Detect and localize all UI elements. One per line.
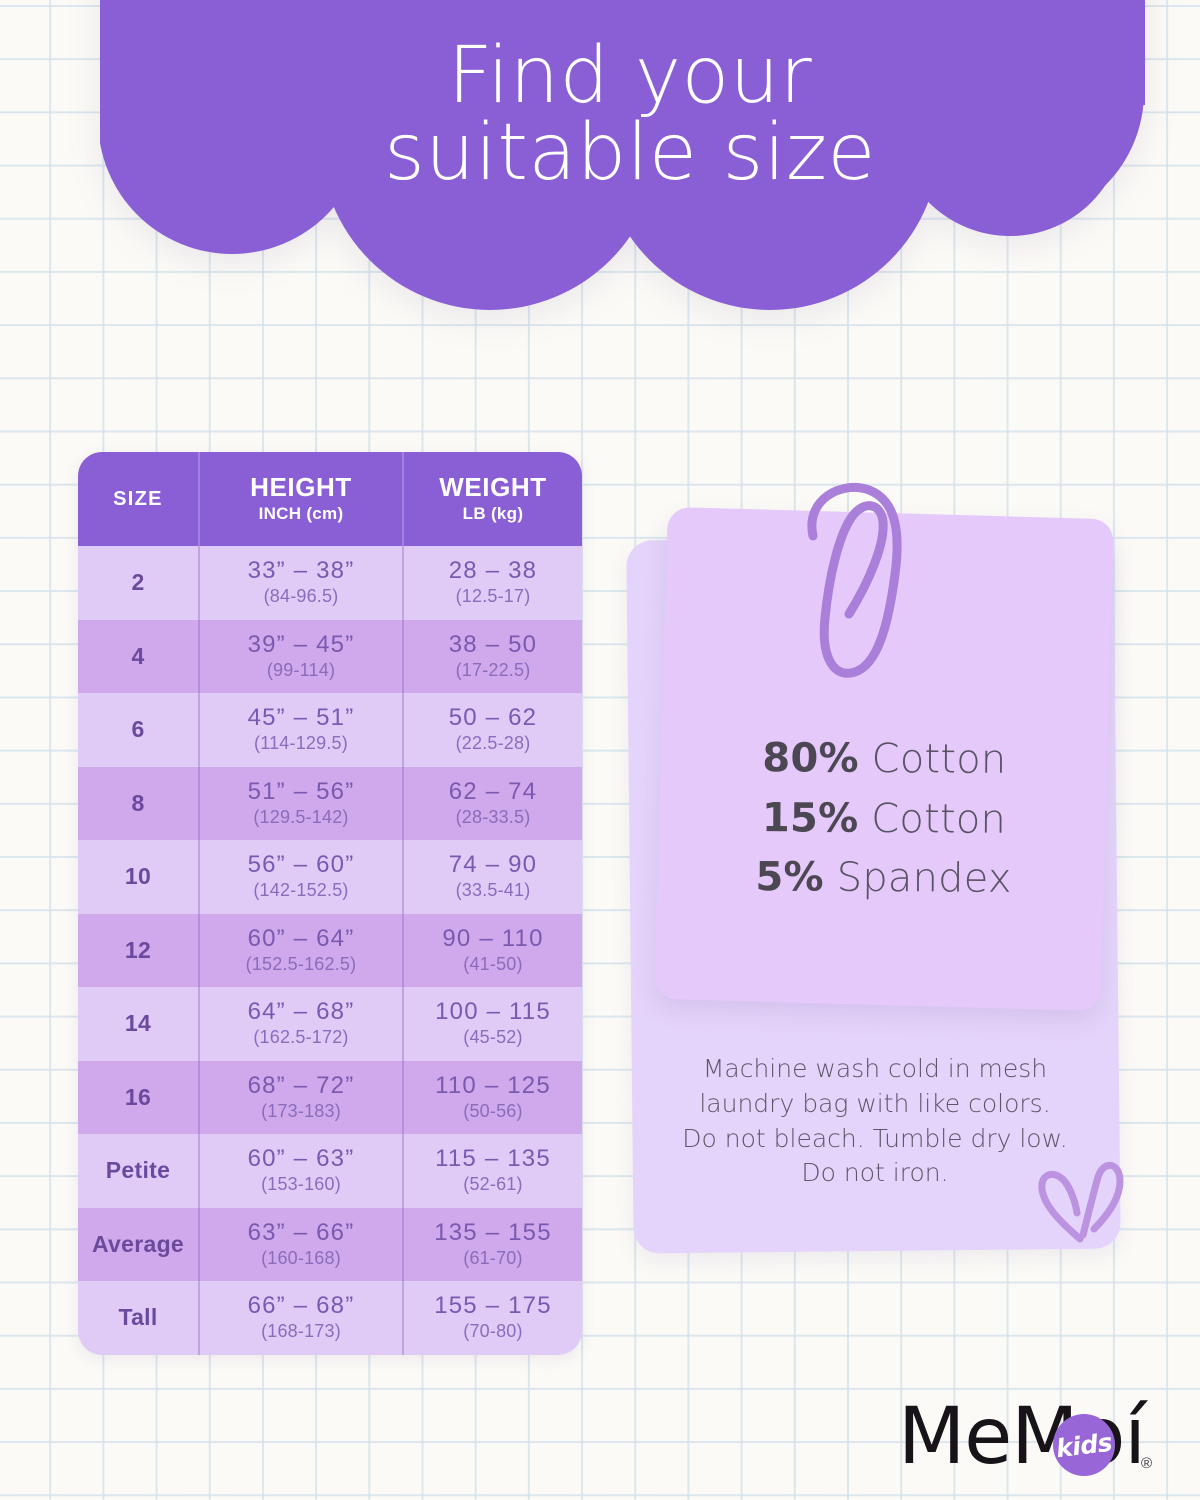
cell-height: 56” – 60”(142-152.5) [199, 840, 403, 914]
composition-percent: 15% [762, 795, 859, 842]
cell-weight-range: 155 – 175 [404, 1293, 582, 1320]
composition-material: Spandex [824, 855, 1012, 902]
heart-doodle-icon [1036, 1155, 1126, 1247]
cell-weight-range: 100 – 115 [404, 999, 582, 1026]
paperclip-icon [795, 478, 925, 688]
composition-percent: 80% [762, 735, 859, 782]
cell-weight: 28 – 38(12.5-17) [403, 546, 582, 620]
cell-height: 66” – 68”(168-173) [199, 1281, 403, 1355]
composition-material: Cotton [858, 795, 1006, 842]
cell-size: 16 [78, 1061, 199, 1135]
table-body: 233” – 38”(84-96.5)28 – 38(12.5-17)439” … [78, 546, 582, 1355]
cell-height-range: 39” – 45” [200, 632, 402, 659]
care-line: Do not bleach. Tumble dry low. [640, 1122, 1110, 1157]
table-row: 233” – 38”(84-96.5)28 – 38(12.5-17) [78, 546, 582, 620]
kids-badge: kids [1053, 1414, 1115, 1476]
cell-weight: 74 – 90(33.5-41) [403, 840, 582, 914]
cell-height-metric: (84-96.5) [200, 586, 402, 607]
column-header-weight: WEIGHT LB (kg) [403, 452, 582, 546]
cell-height-range: 64” – 68” [200, 999, 402, 1026]
cell-weight-metric: (61-70) [404, 1248, 582, 1269]
cell-height-range: 63” – 66” [200, 1220, 402, 1247]
table-row: 1668” – 72”(173-183)110 – 125(50-56) [78, 1061, 582, 1135]
cell-size: 8 [78, 767, 199, 841]
cell-height: 63” – 66”(160-168) [199, 1208, 403, 1282]
column-header-height: HEIGHT INCH (cm) [199, 452, 403, 546]
cell-weight-metric: (70-80) [404, 1321, 582, 1342]
cell-height-metric: (152.5-162.5) [200, 954, 402, 975]
cell-weight: 38 – 50(17-22.5) [403, 620, 582, 694]
cell-height-range: 60” – 64” [200, 926, 402, 953]
table-row: 1056” – 60”(142-152.5)74 – 90(33.5-41) [78, 840, 582, 914]
care-line: laundry bag with like colors. [640, 1087, 1110, 1122]
cell-height: 45” – 51”(114-129.5) [199, 693, 403, 767]
cell-weight-metric: (22.5-28) [404, 733, 582, 754]
cell-weight-range: 38 – 50 [404, 632, 582, 659]
cell-size: 4 [78, 620, 199, 694]
cell-weight-range: 115 – 135 [404, 1146, 582, 1173]
cell-height-range: 60” – 63” [200, 1146, 402, 1173]
kids-badge-label: kids [1054, 1427, 1113, 1463]
table-row: 439” – 45”(99-114)38 – 50(17-22.5) [78, 620, 582, 694]
cell-height-metric: (160-168) [200, 1248, 402, 1269]
cell-height-metric: (173-183) [200, 1101, 402, 1122]
cell-size: 2 [78, 546, 199, 620]
table-row: 1464” – 68”(162.5-172)100 – 115(45-52) [78, 987, 582, 1061]
cell-size: Petite [78, 1134, 199, 1208]
cell-height-metric: (153-160) [200, 1174, 402, 1195]
cell-weight-range: 135 – 155 [404, 1220, 582, 1247]
brand-logo: MeMoí kids ® [898, 1389, 1158, 1485]
composition-material: Cotton [859, 736, 1007, 783]
cell-weight-metric: (33.5-41) [404, 880, 582, 901]
cell-weight: 110 – 125(50-56) [403, 1061, 582, 1135]
cell-weight-metric: (28-33.5) [404, 807, 582, 828]
cell-weight-range: 50 – 62 [404, 705, 582, 732]
size-chart-table: SIZE HEIGHT INCH (cm) WEIGHT LB (kg) 233… [78, 452, 582, 1355]
cell-height-range: 45” – 51” [200, 705, 402, 732]
cell-height-range: 68” – 72” [200, 1073, 402, 1100]
column-header-height-units: INCH (cm) [200, 504, 402, 524]
cell-height-metric: (114-129.5) [200, 733, 402, 754]
cell-weight-range: 62 – 74 [404, 779, 582, 806]
composition-line: 80% Cotton [661, 728, 1107, 791]
cell-size: 12 [78, 914, 199, 988]
cell-weight: 115 – 135(52-61) [403, 1134, 582, 1208]
column-header-weight-units: LB (kg) [404, 504, 582, 524]
cell-height-metric: (162.5-172) [200, 1027, 402, 1048]
cell-weight-range: 74 – 90 [404, 852, 582, 879]
cell-height-range: 33” – 38” [200, 558, 402, 585]
column-header-height-label: HEIGHT [200, 474, 402, 501]
cell-height: 51” – 56”(129.5-142) [199, 767, 403, 841]
cell-height: 64” – 68”(162.5-172) [199, 987, 403, 1061]
cell-weight-metric: (41-50) [404, 954, 582, 975]
composition-line: 5% Spandex [660, 848, 1106, 911]
cell-weight-range: 28 – 38 [404, 558, 582, 585]
cell-weight-metric: (50-56) [404, 1101, 582, 1122]
cell-height-metric: (142-152.5) [200, 880, 402, 901]
page-title: Find your suitable size [150, 38, 1110, 192]
composition-line: 15% Cotton [661, 788, 1107, 851]
cell-size: 10 [78, 840, 199, 914]
cell-weight-metric: (12.5-17) [404, 586, 582, 607]
care-line: Machine wash cold in mesh [640, 1052, 1110, 1087]
infographic-page: Find your suitable size SIZE HEIGHT INCH… [0, 0, 1200, 1500]
cell-weight: 90 – 110(41-50) [403, 914, 582, 988]
cell-height: 33” – 38”(84-96.5) [199, 546, 403, 620]
composition-percent: 5% [755, 854, 824, 900]
cell-size: Tall [78, 1281, 199, 1355]
cell-height: 68” – 72”(173-183) [199, 1061, 403, 1135]
cell-weight-metric: (17-22.5) [404, 660, 582, 681]
cell-height-metric: (168-173) [200, 1321, 402, 1342]
cell-height-range: 51” – 56” [200, 779, 402, 806]
table-row: 1260” – 64”(152.5-162.5)90 – 110(41-50) [78, 914, 582, 988]
cell-height-metric: (129.5-142) [200, 807, 402, 828]
cell-size: 6 [78, 693, 199, 767]
column-header-weight-label: WEIGHT [404, 474, 582, 501]
table-row: Tall66” – 68”(168-173)155 – 175(70-80) [78, 1281, 582, 1355]
cell-size: Average [78, 1208, 199, 1282]
table-row: 851” – 56”(129.5-142)62 – 74(28-33.5) [78, 767, 582, 841]
page-title-line-2: suitable size [150, 115, 1110, 192]
column-header-size-label: SIZE [78, 488, 198, 511]
cell-height-metric: (99-114) [200, 660, 402, 681]
cell-weight-metric: (45-52) [404, 1027, 582, 1048]
cell-weight: 50 – 62(22.5-28) [403, 693, 582, 767]
column-header-size: SIZE [78, 452, 199, 546]
fabric-composition: 80% Cotton 15% Cotton 5% Spandex [660, 728, 1107, 910]
cell-height: 60” – 63”(153-160) [199, 1134, 403, 1208]
registered-mark: ® [1141, 1455, 1152, 1472]
table-row: 645” – 51”(114-129.5)50 – 62(22.5-28) [78, 693, 582, 767]
cell-weight-metric: (52-61) [404, 1174, 582, 1195]
cell-weight: 135 – 155(61-70) [403, 1208, 582, 1282]
table-row: Average63” – 66”(160-168)135 – 155(61-70… [78, 1208, 582, 1282]
cell-size: 14 [78, 987, 199, 1061]
cell-height-range: 56” – 60” [200, 852, 402, 879]
cell-height: 39” – 45”(99-114) [199, 620, 403, 694]
cell-weight: 100 – 115(45-52) [403, 987, 582, 1061]
cell-height-range: 66” – 68” [200, 1293, 402, 1320]
cell-weight-range: 110 – 125 [404, 1073, 582, 1100]
cell-height: 60” – 64”(152.5-162.5) [199, 914, 403, 988]
cell-weight: 62 – 74(28-33.5) [403, 767, 582, 841]
cell-weight-range: 90 – 110 [404, 926, 582, 953]
table-header-row: SIZE HEIGHT INCH (cm) WEIGHT LB (kg) [78, 452, 582, 546]
table-row: Petite60” – 63”(153-160)115 – 135(52-61) [78, 1134, 582, 1208]
cell-weight: 155 – 175(70-80) [403, 1281, 582, 1355]
